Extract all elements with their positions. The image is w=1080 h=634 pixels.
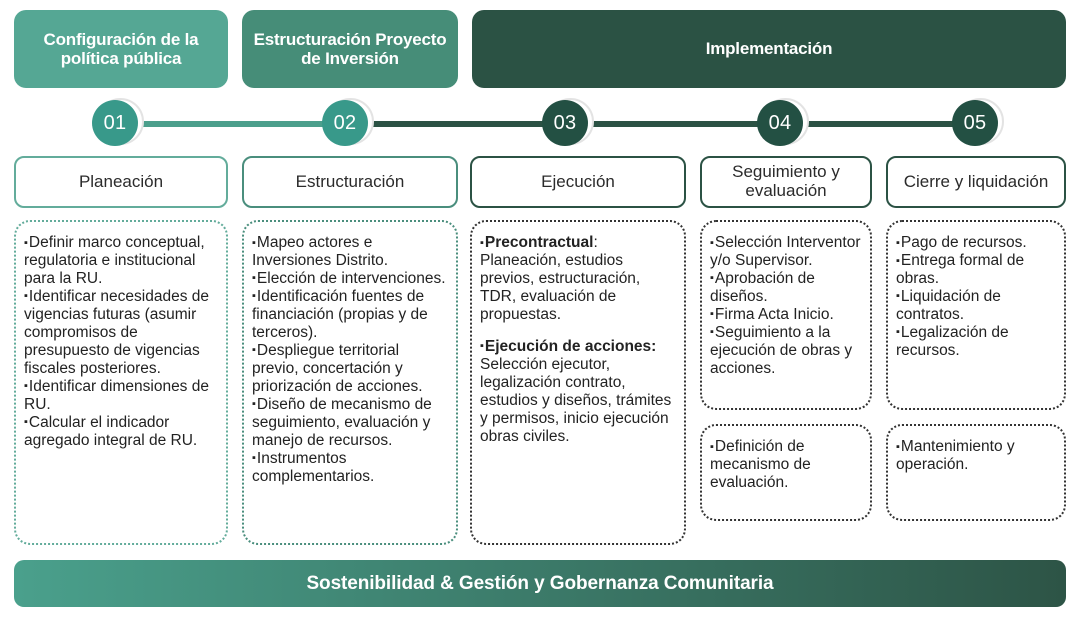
column-title-label: Estructuración bbox=[296, 173, 405, 192]
connector-line-03-04 bbox=[570, 121, 785, 127]
step-number-02: 02 bbox=[334, 112, 357, 135]
phase-banner-1-label: Configuración de la política pública bbox=[22, 30, 220, 68]
column-ejecucion: Ejecución Precontractual: Planeación, es… bbox=[470, 156, 686, 545]
column-title-label: Planeación bbox=[79, 173, 163, 192]
column-title-label: Ejecución bbox=[541, 173, 615, 192]
column-title-label: Cierre y liquidación bbox=[904, 173, 1049, 192]
list-item: Mapeo actores e Inversiones Distrito. bbox=[252, 234, 448, 270]
list-item-body: Selección ejecutor, legalización contrat… bbox=[480, 356, 671, 445]
column-title-ejecucion[interactable]: Ejecución bbox=[470, 156, 686, 208]
step-marker-02[interactable]: 02 bbox=[322, 98, 374, 150]
content-box-cierre-primary: Pago de recursos. Entrega formal de obra… bbox=[886, 220, 1066, 410]
phase-banner-2-label: Estructuración Proyecto de Inversión bbox=[250, 30, 450, 68]
list-item: Pago de recursos. bbox=[896, 234, 1056, 252]
content-box-seguimiento-primary: Selección Interventor y/o Supervisor. Ap… bbox=[700, 220, 872, 410]
column-title-estructuracion[interactable]: Estructuración bbox=[242, 156, 458, 208]
list-item: Calcular el indicador agregado integral … bbox=[24, 414, 218, 450]
list-item: Definición de mecanismo de evaluación. bbox=[710, 438, 862, 492]
list-item: Mantenimiento y operación. bbox=[896, 438, 1056, 474]
connector-line-04-05 bbox=[785, 121, 980, 127]
phase-banner-row: Configuración de la política pública Est… bbox=[0, 10, 1080, 88]
list-item: Liquidación de contratos. bbox=[896, 288, 1056, 324]
list-item-heading-suffix: : bbox=[593, 234, 597, 251]
connector-line-01-02 bbox=[120, 121, 350, 127]
column-title-label: Seguimiento y evaluación bbox=[702, 163, 870, 200]
phase-banner-1[interactable]: Configuración de la política pública bbox=[14, 10, 228, 88]
list-item: Despliegue territorial previo, concertac… bbox=[252, 342, 448, 396]
step-number-04: 04 bbox=[769, 112, 792, 135]
list-item-heading: Ejecución de acciones: bbox=[480, 338, 656, 355]
step-number-01: 01 bbox=[104, 112, 127, 135]
column-title-planeacion[interactable]: Planeación bbox=[14, 156, 228, 208]
connector-line-02-03 bbox=[350, 121, 570, 127]
column-title-cierre-liquidacion[interactable]: Cierre y liquidación bbox=[886, 156, 1066, 208]
list-item: Precontractual: Planeación, estudios pre… bbox=[480, 234, 676, 324]
list-item: Identificación fuentes de financiación (… bbox=[252, 288, 448, 342]
list-item: Definir marco conceptual, regulatoria e … bbox=[24, 234, 218, 288]
list-item: Elección de intervenciones. bbox=[252, 270, 448, 288]
step-marker-05[interactable]: 05 bbox=[952, 98, 1004, 150]
step-number-05: 05 bbox=[964, 112, 987, 135]
step-disc-03: 03 bbox=[542, 100, 588, 146]
phase-banner-3-label: Implementación bbox=[706, 39, 833, 58]
content-box-seguimiento-secondary: Definición de mecanismo de evaluación. bbox=[700, 424, 872, 521]
list-item: Diseño de mecanismo de seguimiento, eval… bbox=[252, 396, 448, 450]
column-estructuracion: Estructuración Mapeo actores e Inversion… bbox=[242, 156, 458, 545]
step-marker-04[interactable]: 04 bbox=[757, 98, 809, 150]
step-number-03: 03 bbox=[554, 112, 577, 135]
step-disc-01: 01 bbox=[92, 100, 138, 146]
content-box-estructuracion: Mapeo actores e Inversiones Distrito. El… bbox=[242, 220, 458, 545]
step-marker-01[interactable]: 01 bbox=[92, 98, 144, 150]
list-item: Instrumentos complementarios. bbox=[252, 450, 448, 486]
list-item: Seguimiento a la ejecución de obras y ac… bbox=[710, 324, 862, 378]
list-item: Identificar necesidades de vigencias fut… bbox=[24, 288, 218, 378]
phase-banner-2[interactable]: Estructuración Proyecto de Inversión bbox=[242, 10, 458, 88]
list-item: Ejecución de acciones: Selección ejecuto… bbox=[480, 338, 676, 446]
list-item: Legalización de recursos. bbox=[896, 324, 1056, 360]
footer-banner-label: Sostenibilidad & Gestión y Gobernanza Co… bbox=[306, 573, 773, 595]
step-disc-02: 02 bbox=[322, 100, 368, 146]
step-marker-03[interactable]: 03 bbox=[542, 98, 594, 150]
phase-banner-3[interactable]: Implementación bbox=[472, 10, 1066, 88]
step-disc-04: 04 bbox=[757, 100, 803, 146]
step-disc-05: 05 bbox=[952, 100, 998, 146]
footer-banner[interactable]: Sostenibilidad & Gestión y Gobernanza Co… bbox=[14, 560, 1066, 607]
content-box-cierre-secondary: Mantenimiento y operación. bbox=[886, 424, 1066, 521]
list-item: Firma Acta Inicio. bbox=[710, 306, 862, 324]
list-item: Entrega formal de obras. bbox=[896, 252, 1056, 288]
list-item-heading: Precontractual bbox=[480, 234, 593, 251]
column-planeacion: Planeación Definir marco conceptual, reg… bbox=[14, 156, 228, 545]
list-item-body: Planeación, estudios previos, estructura… bbox=[480, 252, 640, 323]
list-item: Identificar dimensiones de RU. bbox=[24, 378, 218, 414]
content-box-ejecucion: Precontractual: Planeación, estudios pre… bbox=[470, 220, 686, 545]
column-seguimiento-evaluacion: Seguimiento y evaluación Selección Inter… bbox=[700, 156, 872, 521]
step-timeline: 01 02 03 04 05 bbox=[0, 98, 1080, 150]
column-title-seguimiento-evaluacion[interactable]: Seguimiento y evaluación bbox=[700, 156, 872, 208]
column-cierre-liquidacion: Cierre y liquidación Pago de recursos. E… bbox=[886, 156, 1066, 521]
list-item: Aprobación de diseños. bbox=[710, 270, 862, 306]
list-item: Selección Interventor y/o Supervisor. bbox=[710, 234, 862, 270]
paragraph-spacer bbox=[480, 324, 676, 338]
content-box-planeacion: Definir marco conceptual, regulatoria e … bbox=[14, 220, 228, 545]
